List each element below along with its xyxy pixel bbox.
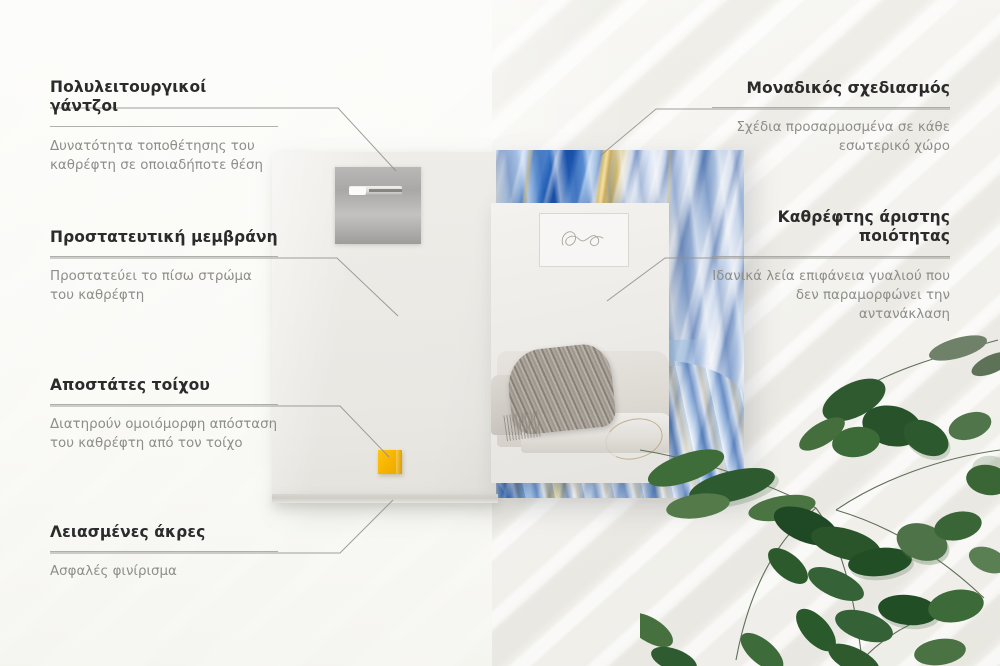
callout-wall-spacers: Αποστάτες τοίχου Διατηρούν ομοιόμορφη απ… — [50, 376, 278, 453]
callout-title: Καθρέφτης άριστης ποιότητας — [712, 208, 950, 247]
callout-divider — [712, 256, 950, 257]
callout-multifunctional-hooks: Πολυλειτουργικοί γάντζοι Δυνατότητα τοπο… — [50, 78, 278, 175]
interior-room-preview — [491, 203, 669, 483]
callout-description: Σχέδια προσαρμοσμένα σε κάθε εσωτερικό χ… — [712, 118, 950, 156]
callout-description: Προστατεύει το πίσω στρώμα του καθρέφτη — [50, 267, 278, 305]
wall-spacer-block — [378, 450, 402, 474]
mirror-bottom-edge — [272, 494, 498, 503]
callout-description: Ασφαλές φινίρισμα — [50, 562, 278, 581]
callout-smoothed-edges: Λειασμένες άκρες Ασφαλές φινίρισμα — [50, 523, 278, 581]
callout-title: Αποστάτες τοίχου — [50, 376, 278, 395]
callout-description: Διατηρούν ομοιόμορφη απόσταση του καθρέφ… — [50, 415, 278, 453]
callout-protective-membrane: Προστατευτική μεμβράνη Προστατεύει το πί… — [50, 228, 278, 305]
blanket-fringe — [503, 411, 540, 441]
callout-divider — [50, 126, 278, 127]
callout-title: Πολυλειτουργικοί γάντζοι — [50, 78, 278, 117]
callout-divider — [50, 551, 278, 552]
callout-description: Ιδανικά λεία επιφάνεια γυαλιού που δεν π… — [712, 267, 950, 324]
abstract-line-art-icon — [557, 225, 611, 255]
callout-divider — [712, 107, 950, 108]
callout-description: Δυνατότητα τοποθέτησης του καθρέφτη σε ο… — [50, 137, 278, 175]
infographic-canvas: Πολυλειτουργικοί γάντζοι Δυνατότητα τοπο… — [0, 0, 1000, 666]
mounting-hook-icon — [349, 186, 402, 196]
callout-title: Μοναδικός σχεδιασμός — [712, 79, 950, 98]
mounting-hook-plate — [335, 167, 421, 244]
callout-top-quality-mirror: Καθρέφτης άριστης ποιότητας Ιδανικά λεία… — [712, 208, 950, 324]
callout-divider — [50, 256, 278, 257]
callout-title: Προστατευτική μεμβράνη — [50, 228, 278, 247]
callout-divider — [50, 404, 278, 405]
room-picture-frame — [539, 213, 629, 267]
callout-title: Λειασμένες άκρες — [50, 523, 278, 542]
callout-unique-design: Μοναδικός σχεδιασμός Σχέδια προσαρμοσμέν… — [712, 79, 950, 156]
